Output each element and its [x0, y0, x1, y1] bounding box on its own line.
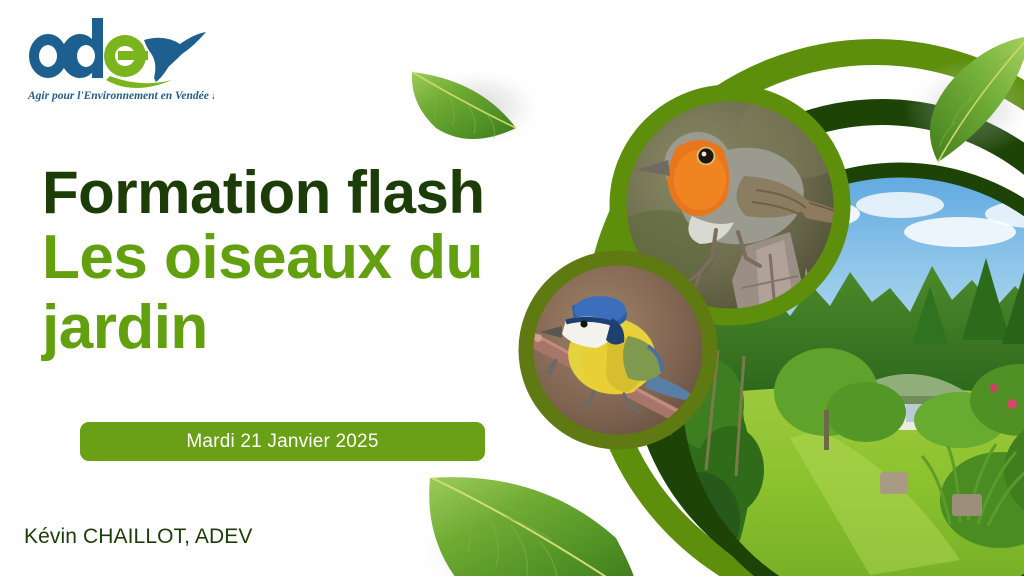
bird-swoosh-icon: [144, 32, 206, 82]
presentation-title-slide: Agir pour l'Environnement en Vendée ! Fo…: [0, 0, 1024, 576]
garden-photo: [660, 170, 1024, 576]
author-byline: Kévin CHAILLOT, ADEV: [24, 525, 252, 549]
ring-arc-outer: [597, 52, 1024, 576]
date-banner: Mardi 21 Janvier 2025: [80, 422, 485, 461]
logo-swoosh: [106, 76, 172, 88]
adev-logo: Agir pour l'Environnement en Vendée !: [14, 18, 214, 104]
date-text: Mardi 21 Janvier 2025: [186, 431, 378, 453]
logo-tagline: Agir pour l'Environnement en Vendée !: [27, 90, 214, 102]
logo-letter-e: [104, 35, 148, 77]
leaf-top-right: [904, 36, 1024, 162]
title-block: Formation flash Les oiseaux du jardin: [42, 162, 562, 362]
title-line-subject: Les oiseaux du jardin: [42, 223, 562, 362]
title-line-formation-flash: Formation flash: [42, 162, 562, 223]
logo-letter-d: [61, 18, 103, 78]
robin-photo: [604, 82, 864, 330]
leaf-top-center: [410, 66, 546, 150]
ring-arc-inner: [642, 112, 1024, 576]
leaf-bottom-center: [410, 477, 636, 576]
